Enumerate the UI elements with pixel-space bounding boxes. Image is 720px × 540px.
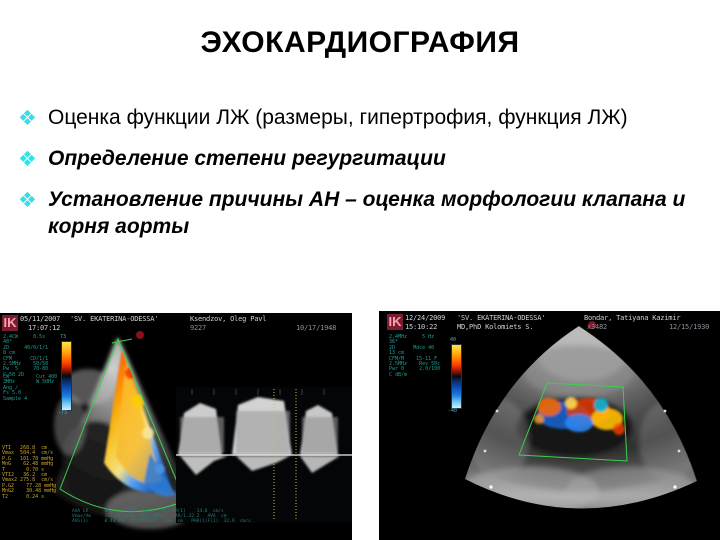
echo-right-patient-name: Bondar, Tatiyana Kazimir <box>584 314 680 322</box>
bullet-diamond-icon: ❖ <box>18 104 48 131</box>
echo-left-measurements: VTI 268.8 cm Vmax 504.4 cm/s P.G 101.78 … <box>2 446 56 500</box>
echo-left-patient-id: 9227 <box>190 324 206 332</box>
color-doppler-scale-bar <box>61 341 72 411</box>
echo-left-time: 17:07:12 <box>28 324 60 332</box>
echo-right-time: 15:10:22 <box>405 323 437 331</box>
bullet-text: Оценка функции ЛЖ (размеры, гипертрофия,… <box>48 104 708 131</box>
echo-left-footer: AVA LV VTI AVDI VA 1 PHT AR(I) 14.0 cm/s… <box>72 509 251 525</box>
echo-left-patient-dob: 10/17/1948 <box>296 324 336 332</box>
echo-right-patient-dob: 12/15/1930 <box>669 323 709 331</box>
echo-right-date: 12/24/2009 <box>405 314 445 322</box>
echo-left-institution: 'SV. EKATERINA-ODESSA' <box>70 315 158 323</box>
echo-left-date: 05/11/2007 <box>20 315 60 323</box>
echo-left-patient-name: Ksendzov, Oleg Pavl <box>190 315 266 323</box>
bullet-list: ❖ Оценка функции ЛЖ (размеры, гипертрофи… <box>18 104 708 254</box>
echo-right-operator: MD,PhD Kolomiets S. <box>457 323 533 331</box>
echo-right-settings-table: 2.4MHz 5 Hz 36* 2D Mdce 40 13 cm CFM/M 1… <box>389 335 440 378</box>
vendor-logo-icon: IK <box>2 315 18 331</box>
bullet-text: Установление причины АН – оценка морфоло… <box>48 186 708 240</box>
bullet-text: Определение степени регургитации <box>48 145 708 172</box>
color-doppler-scale-bar <box>451 344 462 409</box>
colorbar-bottom-label: -73 <box>58 410 67 416</box>
vendor-logo-icon: IK <box>387 314 403 330</box>
echocardiogram-image-right: IK 12/24/2009 'SV. EKATERINA-ODESSA' 15:… <box>379 311 720 540</box>
list-item: ❖ Определение степени регургитации <box>18 145 708 172</box>
bullet-diamond-icon: ❖ <box>18 145 48 172</box>
page-title: ЭХОКАРДИОГРАФИЯ <box>0 26 720 60</box>
echo-right-institution: 'SV. EKATERINA-ODESSA' <box>457 314 545 322</box>
echo-left-canvas <box>0 313 352 540</box>
colorbar-top-label: 73 <box>60 334 66 340</box>
colorbar-top-label: 40 <box>450 337 456 343</box>
echocardiogram-image-left: IK 05/11/2007 'SV. EKATERINA-ODESSA' 17:… <box>0 313 352 540</box>
echo-left-settings-table-2: CW Cut 400 3MHz W 50Hz Ang / Fs 5.0 Samp… <box>3 375 57 402</box>
echo-left-settings-table: 2.4CW 0.5s 48* 2D 40/0/1/1 8 cm CFM CD/1… <box>3 335 48 378</box>
echo-right-patient-id: x3482 <box>587 323 607 331</box>
list-item: ❖ Установление причины АН – оценка морфо… <box>18 186 708 240</box>
colorbar-bottom-label: -40 <box>448 408 457 414</box>
list-item: ❖ Оценка функции ЛЖ (размеры, гипертрофи… <box>18 104 708 131</box>
bullet-diamond-icon: ❖ <box>18 186 48 213</box>
